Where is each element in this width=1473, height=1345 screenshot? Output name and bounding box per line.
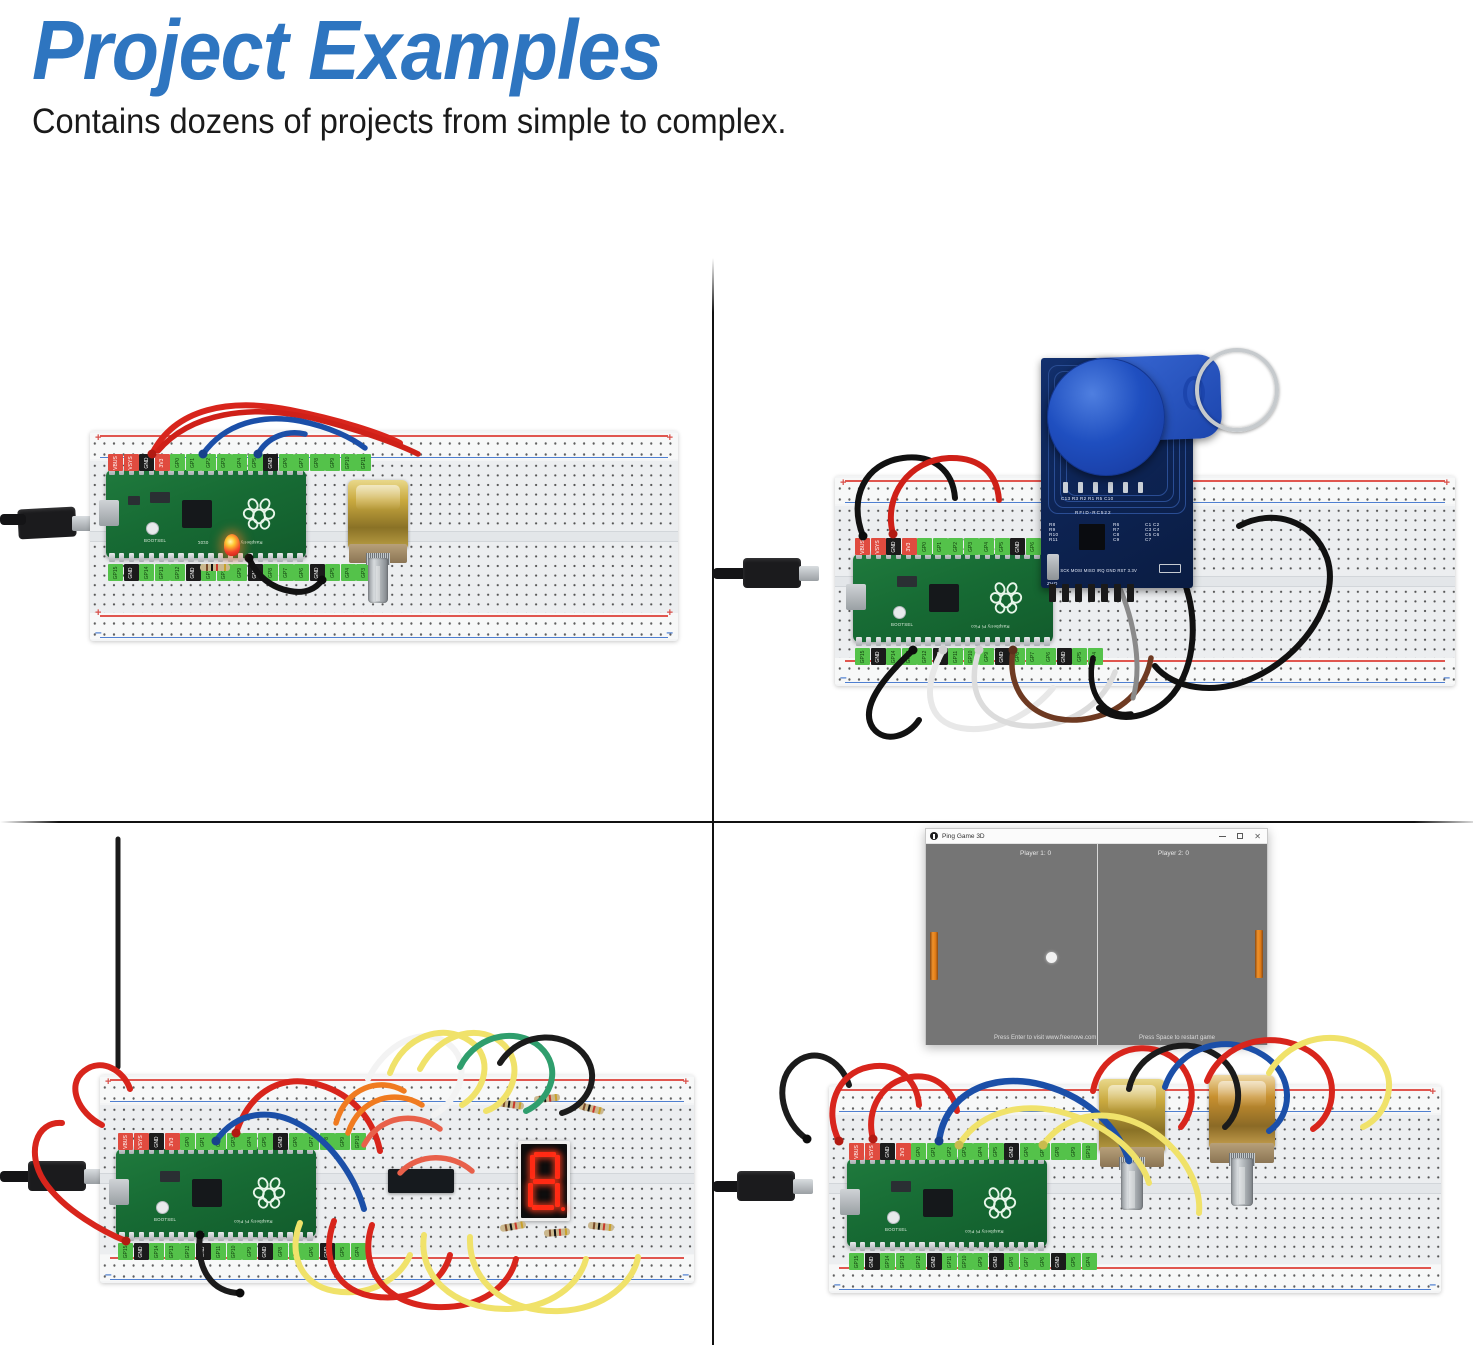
sticker: GP4 xyxy=(242,1133,257,1150)
sticker: GP1 xyxy=(196,1133,211,1150)
pico-usb-port xyxy=(846,584,866,610)
pico-bootsel-button[interactable] xyxy=(887,1211,900,1224)
sticker: VSYS xyxy=(134,1133,149,1150)
pico-flash-chip xyxy=(897,576,917,587)
project-examples-page: Project Examples Contains dozens of proj… xyxy=(0,0,1473,1345)
sticker: GP7 xyxy=(1035,1143,1050,1160)
pico-flash-chip xyxy=(150,492,170,503)
rfid-crystal xyxy=(1047,554,1059,580)
pong-center-line xyxy=(1097,844,1098,1045)
sticker: VBUS xyxy=(849,1143,864,1160)
player1-score: Player 1: 0 xyxy=(1020,850,1051,857)
sticker: GP6 xyxy=(1041,648,1056,665)
sticker: GP2 xyxy=(201,454,216,471)
sticker: GP7 xyxy=(279,564,294,581)
sticker: 3V3 xyxy=(896,1143,911,1160)
sticker: GP7 xyxy=(1020,1253,1035,1270)
resistor xyxy=(200,564,230,571)
sticker: GP13 xyxy=(896,1253,911,1270)
sticker: GP2 xyxy=(942,1143,957,1160)
usb-cable-plug xyxy=(743,558,801,588)
example-pong-game: Ping Game 3D ✕ Player 1: 0 Player 2: 0 P… xyxy=(713,823,1473,1345)
pin-label-stickers-top: VBUS VSYS GND 3V3 GP0 GP1 GP2 GP3 GP4 GP… xyxy=(118,1133,366,1150)
usb-connector-tip xyxy=(799,566,819,581)
sticker: GND xyxy=(149,1133,164,1150)
raspberry-pi-logo xyxy=(252,1175,286,1209)
pico-rp2040-chip xyxy=(923,1189,953,1217)
close-icon[interactable]: ✕ xyxy=(1254,832,1261,841)
sticker: GND xyxy=(310,564,325,581)
footer-hint-right: Press Space to restart game xyxy=(1139,1035,1215,1041)
sticker: GP9 xyxy=(242,1243,257,1260)
pico-bootsel-label: BOOTSEL xyxy=(891,622,913,627)
rfid-key-fob xyxy=(1047,358,1165,476)
usb-connector-tip xyxy=(793,1179,813,1194)
segment-a xyxy=(534,1152,556,1157)
sticker: GND xyxy=(258,1243,273,1260)
sticker: GP8 xyxy=(1004,1253,1019,1270)
pico-usb-port xyxy=(840,1189,860,1215)
sticker: GP12 xyxy=(170,564,185,581)
sticker: GP11 xyxy=(211,1243,226,1260)
sticker: GP9 xyxy=(232,564,247,581)
sticker: GP14 xyxy=(880,1253,895,1270)
sticker: GP10 xyxy=(351,1133,366,1150)
sticker: GND xyxy=(871,648,886,665)
sticker: GP14 xyxy=(149,1243,164,1260)
raspberry-pi-pico-board: BOOTSEL Raspberry Pi Pico xyxy=(847,1159,1047,1247)
pico-rp2040-chip xyxy=(192,1179,222,1207)
sticker: GP9 xyxy=(325,454,340,471)
segment-c xyxy=(555,1183,560,1207)
sticker: 3V3 xyxy=(155,454,170,471)
seven-segment-display: 8 xyxy=(518,1141,570,1221)
pico-usb-port xyxy=(109,1179,129,1205)
rfid-header-pins xyxy=(1049,584,1134,602)
sticker: GND xyxy=(263,454,278,471)
pico-rp2040-chip xyxy=(929,584,959,612)
sticker: VBUS xyxy=(108,454,123,471)
sticker: GND xyxy=(989,1253,1004,1270)
potentiometer-player1[interactable] xyxy=(1099,1079,1165,1205)
sticker: VBUS xyxy=(118,1133,133,1150)
sticker: GP12 xyxy=(917,648,932,665)
sticker: GND xyxy=(995,648,1010,665)
sticker: GP15 xyxy=(118,1243,133,1260)
window-title: Ping Game 3D xyxy=(942,833,985,840)
rfid-pin-labels: SDA SCK MOSI MISO IRQ GND RST 3.3V xyxy=(1050,568,1137,573)
pong-ball xyxy=(1046,952,1057,963)
rfid-silkscreen-box xyxy=(1159,564,1181,573)
sticker: GP0 xyxy=(917,538,932,555)
sticker: GP11 xyxy=(356,454,371,471)
sticker: GP14 xyxy=(139,564,154,581)
sticker: GND xyxy=(248,564,263,581)
pong-play-field: Player 1: 0 Player 2: 0 Press Enter to v… xyxy=(926,844,1267,1045)
pico-bootsel-label: BOOTSEL xyxy=(885,1227,907,1232)
pico-board-label: Raspberry Pi Pico xyxy=(234,1219,273,1224)
sticker: GND xyxy=(927,1253,942,1270)
sticker: GP5 xyxy=(248,454,263,471)
sticker: GP8 xyxy=(320,1133,335,1150)
sticker: GP8 xyxy=(1010,648,1025,665)
sticker: GP6 xyxy=(279,454,294,471)
sticker: GP4 xyxy=(1088,648,1103,665)
sticker: GP10 xyxy=(958,1253,973,1270)
segment-e xyxy=(528,1183,533,1207)
usb-cable-plug xyxy=(737,1171,795,1201)
rfid-mfrc522-chip xyxy=(1079,524,1105,550)
sticker: GND xyxy=(139,454,154,471)
sticker: GP10 xyxy=(964,648,979,665)
pin-label-stickers-bottom: GP15 GND GP14 GP13 GP12 GND GP11 GP10 GP… xyxy=(855,648,1103,665)
sticker: GND xyxy=(1057,648,1072,665)
window-controls[interactable]: ✕ xyxy=(1219,832,1263,841)
sticker: GP2 xyxy=(211,1133,226,1150)
sticker: GP4 xyxy=(351,1243,366,1260)
sticker: VBUS xyxy=(855,538,870,555)
sticker: GND xyxy=(1004,1143,1019,1160)
sticker: GP0 xyxy=(911,1143,926,1160)
sticker: GP5 xyxy=(258,1133,273,1150)
sticker: GP8 xyxy=(263,564,278,581)
header: Project Examples Contains dozens of proj… xyxy=(32,4,1432,144)
sticker: GP13 xyxy=(155,564,170,581)
sticker: GND xyxy=(1010,538,1025,555)
sticker: GP1 xyxy=(186,454,201,471)
pin-label-stickers-bottom: GP15 GND GP14 GP13 GP12 GND GP11 GP10 GP… xyxy=(849,1253,1097,1270)
sticker: GP13 xyxy=(165,1243,180,1260)
potentiometer[interactable] xyxy=(348,480,408,598)
raspberry-pi-pico-board: BOOTSEL 2020 Raspberry Pi Pico xyxy=(106,470,306,558)
sticker: GP5 xyxy=(995,538,1010,555)
sticker: GND xyxy=(196,1243,211,1260)
sticker: VSYS xyxy=(124,454,139,471)
minimize-icon[interactable] xyxy=(1219,836,1226,837)
example-led-potentiometer: + + – – + + xyxy=(0,258,712,821)
raspberry-pi-logo xyxy=(989,580,1023,614)
app-icon xyxy=(930,832,938,840)
pico-rp2040-chip xyxy=(182,500,212,528)
sticker: GP11 xyxy=(948,648,963,665)
pico-board-label: Raspberry Pi Pico xyxy=(965,1229,1004,1234)
potentiometer-player2[interactable] xyxy=(1209,1075,1275,1201)
rfid-module-name: RFID-RC522 xyxy=(1075,510,1112,515)
sticker: GP7 xyxy=(304,1133,319,1150)
player1-paddle[interactable] xyxy=(930,932,938,980)
sticker: GP3 xyxy=(227,1133,242,1150)
sticker: GP5 xyxy=(1072,648,1087,665)
sticker: VSYS xyxy=(865,1143,880,1160)
pico-bootsel-button[interactable] xyxy=(156,1201,169,1214)
sticker: GP7 xyxy=(1026,648,1041,665)
page-subtitle: Contains dozens of projects from simple … xyxy=(32,100,1334,144)
sticker: GP8 xyxy=(310,454,325,471)
pin-label-stickers-top: VBUS VSYS GND 3V3 GP0 GP1 GP2 GP3 GP4 GP… xyxy=(108,454,372,471)
pico-flash-chip xyxy=(160,1171,180,1182)
usb-cable xyxy=(0,514,26,525)
sticker: GP9 xyxy=(335,1133,350,1150)
footer-hint-left: Press Enter to visit www.freenove.com xyxy=(994,1035,1096,1041)
pico-bootsel-label: BOOTSEL xyxy=(154,1217,176,1222)
segment-g xyxy=(533,1179,555,1184)
sticker: GP6 xyxy=(1026,538,1041,555)
player2-score: Player 2: 0 xyxy=(1158,850,1189,857)
red-led xyxy=(224,534,240,556)
sticker: GP0 xyxy=(180,1133,195,1150)
segment-decimal-point xyxy=(561,1207,565,1211)
player2-paddle[interactable] xyxy=(1255,930,1263,978)
pin-label-stickers-top: VBUS VSYS GND 3V3 GP0 GP1 GP2 GP3 GP4 GP… xyxy=(849,1143,1097,1160)
pin-label-stickers-bottom: GP15 GND GP14 GP13 GP12 GND GP11 GP10 GP… xyxy=(118,1243,366,1260)
sticker: GP5 xyxy=(325,564,340,581)
sticker: GP15 xyxy=(849,1253,864,1270)
shift-register-ic xyxy=(388,1169,454,1193)
sticker: GP7 xyxy=(294,454,309,471)
sticker: GP4 xyxy=(1082,1253,1097,1270)
raspberry-pi-pico-board: BOOTSEL Raspberry Pi Pico xyxy=(116,1149,316,1237)
sticker: GP1 xyxy=(933,538,948,555)
sticker: GP15 xyxy=(855,648,870,665)
sticker: VSYS xyxy=(871,538,886,555)
sticker: GP15 xyxy=(108,564,123,581)
example-seven-segment: + + – – xyxy=(0,823,712,1345)
sticker: GND xyxy=(134,1243,149,1260)
segment-d xyxy=(532,1205,554,1210)
raspberry-pi-logo xyxy=(983,1185,1017,1219)
sticker: GP5 xyxy=(1066,1253,1081,1270)
example-rfid-rc522: + + – – xyxy=(713,258,1473,821)
sticker: GND xyxy=(186,564,201,581)
usb-connector-tip xyxy=(72,516,92,531)
raspberry-pi-pico-board: BOOTSEL Raspberry Pi Pico xyxy=(853,554,1053,642)
sticker: GP6 xyxy=(1035,1253,1050,1270)
sticker: GP0 xyxy=(170,454,185,471)
pico-board-label: Raspberry Pi Pico xyxy=(971,624,1010,629)
sticker: GP5 xyxy=(989,1143,1004,1160)
pico-year-label: 2020 xyxy=(198,540,209,545)
sticker: GND xyxy=(1051,1253,1066,1270)
sticker: GND xyxy=(886,538,901,555)
sticker: 3V3 xyxy=(902,538,917,555)
sticker: GP2 xyxy=(948,538,963,555)
sticker: GP3 xyxy=(217,454,232,471)
window-title-bar[interactable]: Ping Game 3D ✕ xyxy=(926,829,1267,844)
rfid-led-pads xyxy=(1063,482,1143,493)
usb-cable-plug xyxy=(28,1161,86,1191)
sticker: GP12 xyxy=(911,1253,926,1270)
sticker: GP7 xyxy=(289,1243,304,1260)
sticker: GP12 xyxy=(180,1243,195,1260)
sticker: GP9 xyxy=(973,1253,988,1270)
sticker: GP8 xyxy=(273,1243,288,1260)
sticker: GND xyxy=(865,1253,880,1270)
page-title: Project Examples xyxy=(32,4,1320,96)
sticker: GND xyxy=(933,648,948,665)
pico-bootsel-button[interactable] xyxy=(146,522,159,535)
breadboard-bottom-power-rail xyxy=(90,613,678,639)
sticker: GP14 xyxy=(886,648,901,665)
sticker: GND xyxy=(880,1143,895,1160)
sticker: GP6 xyxy=(294,564,309,581)
sticker: GP6 xyxy=(289,1133,304,1150)
pico-bootsel-button[interactable] xyxy=(893,606,906,619)
sticker: GP6 xyxy=(304,1243,319,1260)
sticker: GND xyxy=(320,1243,335,1260)
sticker: GP11 xyxy=(942,1253,957,1270)
sticker: GND xyxy=(124,564,139,581)
sticker: GP8 xyxy=(1051,1143,1066,1160)
maximize-icon[interactable] xyxy=(1237,833,1243,839)
sticker: GND xyxy=(273,1133,288,1150)
sticker: GP10 xyxy=(341,454,356,471)
segment-f xyxy=(530,1155,535,1179)
segment-b xyxy=(555,1155,560,1179)
sticker: GP13 xyxy=(902,648,917,665)
sticker: GP9 xyxy=(1066,1143,1081,1160)
pico-flash-chip xyxy=(891,1181,911,1192)
pico-regulator xyxy=(128,496,140,505)
pico-header-bottom xyxy=(109,553,303,562)
pico-bootsel-label: BOOTSEL xyxy=(144,538,166,543)
pong-game-window[interactable]: Ping Game 3D ✕ Player 1: 0 Player 2: 0 P… xyxy=(925,828,1268,1045)
sticker: GP4 xyxy=(232,454,247,471)
sticker: GP10 xyxy=(227,1243,242,1260)
sticker: GP1 xyxy=(927,1143,942,1160)
sticker: GP3 xyxy=(964,538,979,555)
sticker: GP10 xyxy=(1082,1143,1097,1160)
sticker: GP3 xyxy=(958,1143,973,1160)
sticker: GP6 xyxy=(1020,1143,1035,1160)
key-ring xyxy=(1195,348,1279,432)
sticker: GP4 xyxy=(973,1143,988,1160)
pico-usb-port xyxy=(99,500,119,526)
sticker: GP9 xyxy=(979,648,994,665)
sticker: 3V3 xyxy=(165,1133,180,1150)
sticker: GP4 xyxy=(979,538,994,555)
sticker: GP5 xyxy=(335,1243,350,1260)
raspberry-pi-logo xyxy=(242,496,276,530)
pin-label-stickers-bottom: GP15 GND GP14 GP13 GP12 GND GP11 GP10 GP… xyxy=(108,564,372,581)
usb-cable-plug xyxy=(17,507,76,540)
